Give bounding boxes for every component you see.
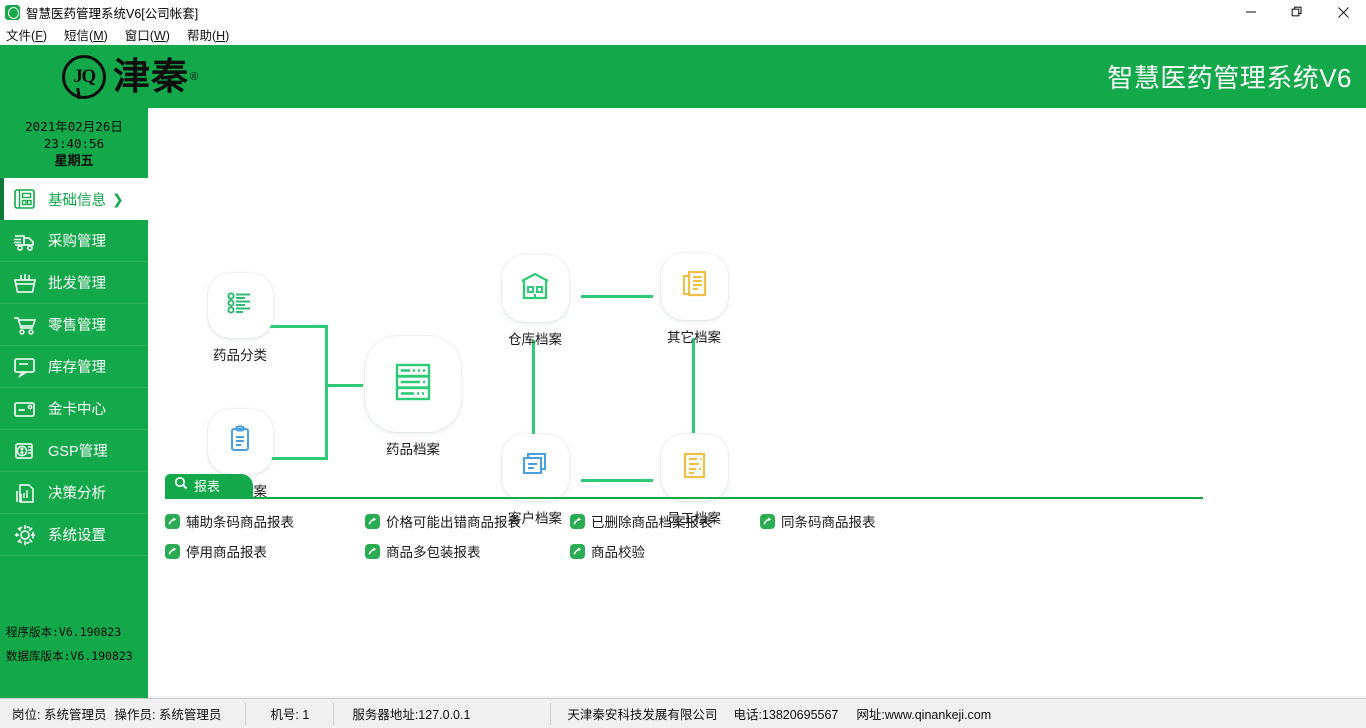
- documents-stack-icon: [675, 265, 713, 308]
- reports-row: 辅助条码商品报表 价格可能出错商品报表 已删除商品档案报表 同条码商品报表: [165, 506, 1205, 536]
- status-operator: 操作员: 系统管理员: [114, 704, 221, 723]
- report-link-label: 商品多包装报表: [386, 541, 481, 561]
- status-divider: [245, 703, 246, 725]
- sidebar: 2021年02月26日 23:40:56 星期五 基础信息 ❯: [0, 108, 148, 696]
- analysis-chart-icon: [10, 478, 40, 508]
- menu-item-help[interactable]: 帮助(H): [187, 25, 229, 44]
- clipboard-icon: [222, 421, 258, 462]
- status-machine: 机号: 1: [270, 704, 309, 723]
- report-link-multi-package[interactable]: 商品多包装报表: [365, 541, 570, 561]
- arrow-badge-icon: [365, 544, 380, 559]
- menu-bar: 文件(F) 短信(M) 窗口(W) 帮助(H): [0, 24, 1366, 45]
- jq-circle-logo-icon: [62, 55, 106, 99]
- status-phone: 电话:13820695567: [733, 704, 838, 723]
- tile-icon-wrapper: [365, 336, 461, 432]
- menu-item-window[interactable]: 窗口(W): [125, 25, 170, 44]
- window-controls: [1228, 0, 1366, 24]
- tile-icon-wrapper: [502, 434, 569, 501]
- report-link-disabled-products[interactable]: 停用商品报表: [165, 541, 365, 561]
- archive-box-icon: [10, 184, 40, 214]
- sidebar-item-decision-analysis[interactable]: 决策分析: [0, 472, 148, 514]
- app-header-banner: 津秦 ® 智慧医药管理系统V6: [0, 45, 1366, 108]
- tile-icon-wrapper: [208, 409, 273, 474]
- tile-other-archive[interactable]: 其它档案: [644, 253, 744, 346]
- restore-button[interactable]: [1274, 0, 1320, 24]
- tile-drug-archive[interactable]: 药品档案: [360, 336, 466, 458]
- connector-line: [581, 295, 653, 298]
- menu-item-help-label: 帮助: [187, 29, 212, 43]
- gold-card-icon: [10, 394, 40, 424]
- sidebar-item-inventory[interactable]: 库存管理: [0, 346, 148, 388]
- version-info: 程序版本:V6.190823 数据库版本:V6.190823: [0, 620, 148, 668]
- title-bar: 智慧医药管理系统V6[公司帐套]: [0, 0, 1366, 24]
- sidebar-item-label: 采购管理: [48, 230, 106, 251]
- status-server: 服务器地址:127.0.0.1: [352, 704, 470, 723]
- menu-item-sms-accel: M: [93, 29, 103, 43]
- report-link-label: 价格可能出错商品报表: [386, 511, 521, 531]
- customer-cards-icon: [516, 446, 554, 489]
- reports-grid: 辅助条码商品报表 价格可能出错商品报表 已删除商品档案报表 同条码商品报表: [165, 506, 1205, 566]
- tile-label: 其它档案: [644, 326, 744, 346]
- app-logo-icon: [5, 5, 20, 20]
- sidebar-item-label: 决策分析: [48, 482, 106, 503]
- brand-logo: 津秦 ®: [62, 55, 198, 99]
- clock-date: 2021年02月26日: [0, 118, 148, 135]
- reports-row: 停用商品报表 商品多包装报表 商品校验: [165, 536, 1205, 566]
- arrow-badge-icon: [165, 544, 180, 559]
- status-website: 网址:www.qinankeji.com: [856, 704, 991, 723]
- arrow-badge-icon: [365, 514, 380, 529]
- program-version: 程序版本:V6.190823: [0, 620, 148, 644]
- menu-item-file-accel: F: [35, 29, 43, 43]
- gear-icon: [10, 520, 40, 550]
- clock-time: 23:40:56: [0, 135, 148, 152]
- sidebar-item-system-settings[interactable]: 系统设置: [0, 514, 148, 556]
- tile-icon-wrapper: [661, 253, 728, 320]
- tile-icon-wrapper: [208, 273, 273, 338]
- menu-item-window-accel: W: [154, 29, 166, 43]
- registered-mark-icon: ®: [190, 71, 198, 83]
- arrow-badge-icon: [165, 514, 180, 529]
- inventory-screen-icon: [10, 352, 40, 382]
- money-stack-icon: [10, 436, 40, 466]
- menu-item-sms[interactable]: 短信(M): [64, 25, 108, 44]
- report-link-label: 辅助条码商品报表: [186, 511, 294, 531]
- status-divider: [333, 703, 334, 725]
- status-divider: [550, 703, 551, 725]
- connector-line: [532, 340, 535, 435]
- status-role: 岗位: 系统管理员: [12, 704, 106, 723]
- database-version: 数据库版本:V6.190823: [0, 644, 148, 668]
- reports-tab-label: 报表: [194, 476, 220, 495]
- server-rack-icon: [387, 356, 439, 413]
- report-link-label: 已删除商品档案报表: [591, 511, 713, 531]
- tile-icon-wrapper: [502, 255, 569, 322]
- connector-line: [692, 338, 695, 433]
- status-bar: 岗位: 系统管理员 操作员: 系统管理员 机号: 1 服务器地址:127.0.0…: [0, 698, 1366, 728]
- report-link-same-barcode[interactable]: 同条码商品报表: [760, 511, 950, 531]
- clock-weekday: 星期五: [0, 152, 148, 169]
- chevron-right-icon: ❯: [112, 191, 124, 208]
- tile-label: 药品分类: [190, 344, 290, 364]
- sidebar-item-label: GSP管理: [48, 440, 108, 461]
- sidebar-item-basic-info[interactable]: 基础信息 ❯: [0, 178, 148, 220]
- sidebar-item-label: 批发管理: [48, 272, 106, 293]
- sidebar-item-label: 金卡中心: [48, 398, 106, 419]
- employee-list-icon: [675, 446, 713, 489]
- sidebar-item-label: 库存管理: [48, 356, 106, 377]
- sidebar-item-wholesale[interactable]: 批发管理: [0, 262, 148, 304]
- arrow-badge-icon: [570, 514, 585, 529]
- report-link-aux-barcode[interactable]: 辅助条码商品报表: [165, 511, 365, 531]
- minimize-button[interactable]: [1228, 0, 1274, 24]
- report-link-label: 商品校验: [591, 541, 645, 561]
- shopping-cart-icon: [10, 310, 40, 340]
- tile-warehouse-archive[interactable]: 仓库档案: [485, 255, 585, 348]
- connector-line: [581, 479, 653, 482]
- app-title: 智慧医药管理系统V6: [1107, 58, 1352, 95]
- connector-line: [325, 325, 328, 460]
- tile-label: 药品档案: [360, 438, 466, 458]
- report-link-label: 停用商品报表: [186, 541, 267, 561]
- application-window: 智慧医药管理系统V6[公司帐套] 文件(F): [0, 0, 1366, 728]
- sidebar-nav: 基础信息 ❯ 采购管理: [0, 178, 148, 556]
- main-content: 药品分类 货商档案: [148, 108, 1366, 696]
- connector-line: [325, 384, 363, 387]
- sidebar-item-gold-card[interactable]: 金卡中心: [0, 388, 148, 430]
- clock-widget: 2021年02月26日 23:40:56 星期五: [0, 108, 148, 169]
- arrow-badge-icon: [760, 514, 775, 529]
- delivery-truck-icon: [10, 226, 40, 256]
- tile-icon-wrapper: [661, 434, 728, 501]
- menu-item-file-label: 文件: [6, 29, 31, 43]
- menu-item-file[interactable]: 文件(F): [6, 25, 47, 44]
- sidebar-item-label: 零售管理: [48, 314, 106, 335]
- report-link-deleted-archive[interactable]: 已删除商品档案报表: [570, 511, 760, 531]
- menu-item-sms-label: 短信: [64, 29, 89, 43]
- status-company: 天津秦安科技发展有限公司: [567, 704, 717, 723]
- sidebar-item-gsp[interactable]: GSP管理: [0, 430, 148, 472]
- window-title: 智慧医药管理系统V6[公司帐套]: [26, 3, 198, 22]
- search-icon: [174, 476, 188, 495]
- reports-tab[interactable]: 报表: [165, 474, 253, 497]
- tile-drug-category[interactable]: 药品分类: [190, 273, 290, 364]
- sidebar-item-label: 基础信息: [48, 189, 106, 210]
- warehouse-icon: [516, 267, 554, 310]
- reports-divider: [165, 497, 1203, 499]
- brand-logo-text: 津秦: [113, 58, 189, 95]
- report-link-label: 同条码商品报表: [781, 511, 876, 531]
- arrow-badge-icon: [570, 544, 585, 559]
- basket-icon: [10, 268, 40, 298]
- menu-item-window-label: 窗口: [125, 29, 150, 43]
- sidebar-item-label: 系统设置: [48, 524, 106, 545]
- close-button[interactable]: [1320, 0, 1366, 24]
- tile-label: 仓库档案: [485, 328, 585, 348]
- sidebar-item-purchase[interactable]: 采购管理: [0, 220, 148, 262]
- menu-item-help-accel: H: [216, 29, 225, 43]
- bullet-list-icon: [222, 285, 258, 326]
- sidebar-item-retail[interactable]: 零售管理: [0, 304, 148, 346]
- report-link-product-verify[interactable]: 商品校验: [570, 541, 760, 561]
- report-link-price-error[interactable]: 价格可能出错商品报表: [365, 511, 570, 531]
